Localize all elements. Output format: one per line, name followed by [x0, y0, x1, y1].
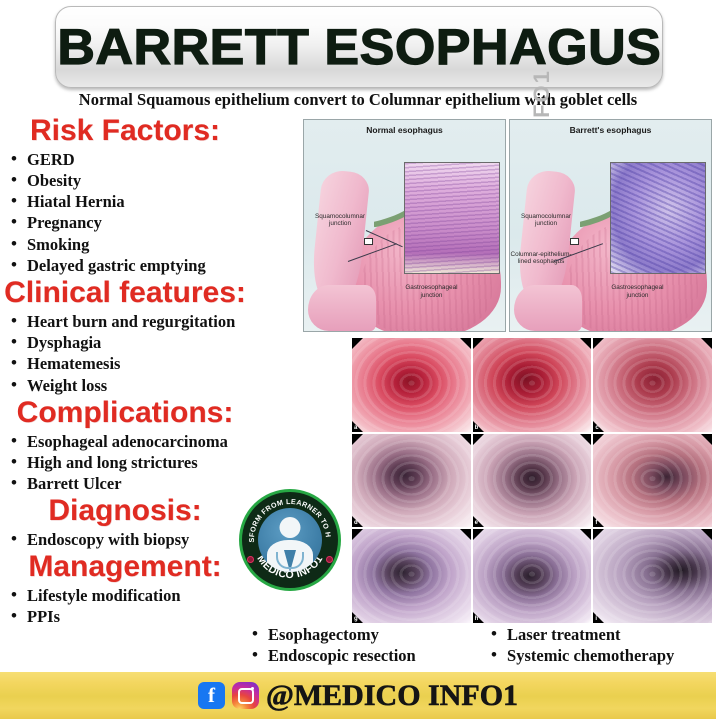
label-columnar-epithelium-lined-esophagus: Columnar-epithelium- lined esophagus: [509, 251, 574, 266]
facebook-icon[interactable]: f: [198, 682, 225, 709]
endoscopy-tile: b: [473, 338, 592, 432]
diagram-panel-barrett: Barrett's esophagus Squamocolumnar junct…: [509, 119, 712, 332]
corner-marker-icon: [460, 529, 471, 540]
corner-marker-icon: [701, 434, 712, 445]
tile-tag: g: [354, 616, 358, 622]
endoscopy-tile: i: [593, 529, 712, 623]
list-item: High and long strictures: [0, 452, 300, 473]
list-complications: Esophageal adenocarcinoma High and long …: [0, 431, 300, 495]
list-item: GERD: [0, 149, 300, 170]
mucosa-texture: [593, 338, 712, 432]
list-item: Delayed gastric emptying: [0, 255, 300, 276]
watermark-container: MEDICO INFO1: [271, 130, 303, 335]
mucosa-texture: [593, 434, 712, 528]
tile-tag: b: [475, 425, 479, 431]
endoscopy-tile: h: [473, 529, 592, 623]
list-item: Pregnancy: [0, 212, 300, 233]
social-handle: @MEDICO INFO1: [266, 679, 518, 713]
biopsy-site-marker: [364, 238, 373, 245]
list-item: Lifestyle modification: [0, 585, 300, 606]
label-gastroesophageal-junction: Gastroesophageal junction: [602, 284, 672, 299]
label-squamocolumnar-junction: Squamocolumnar junction: [515, 213, 577, 228]
gastric-fold-illustration: [308, 285, 376, 331]
section-heading-complications: Complications:: [0, 398, 250, 429]
corner-marker-icon: [701, 338, 712, 349]
list-item: Weight loss: [0, 375, 300, 396]
mucosa-texture: [473, 529, 592, 623]
mucosa-texture: [352, 434, 471, 528]
list-item: Smoking: [0, 234, 300, 255]
logo-accent-dot: [326, 556, 333, 563]
medico-info-logo: TRANSFORM FROM LEARNER TO HEALER MEDICO …: [242, 492, 338, 588]
endoscopy-tile: c: [593, 338, 712, 432]
corner-marker-icon: [593, 338, 604, 349]
endoscopy-tile: f: [593, 434, 712, 528]
histology-image-barrett: [610, 162, 706, 274]
corner-marker-icon: [352, 529, 363, 540]
tile-tag: f: [595, 520, 597, 526]
corner-marker-icon: [580, 529, 591, 540]
endoscopy-tile: e: [473, 434, 592, 528]
section-heading-clinical-features: Clinical features:: [0, 278, 250, 309]
corner-marker-icon: [473, 434, 484, 445]
doctor-head-icon: [280, 517, 301, 538]
tile-tag: i: [595, 616, 597, 622]
mucosa-texture: [352, 529, 471, 623]
tile-tag: h: [475, 616, 479, 622]
endoscopy-tile: a: [352, 338, 471, 432]
corner-marker-icon: [460, 434, 471, 445]
gastric-fold-illustration: [514, 285, 582, 331]
corner-marker-icon: [580, 338, 591, 349]
instagram-icon[interactable]: [232, 682, 259, 709]
mucosa-texture: [593, 529, 712, 623]
list-item: Heart burn and regurgitation: [0, 311, 300, 332]
list-item: Dysphagia: [0, 332, 300, 353]
corner-marker-icon: [593, 434, 604, 445]
anatomy-diagram: Normal esophagus Squamocolumnar junction…: [303, 119, 712, 332]
section-heading-risk-factors: Risk Factors:: [0, 116, 250, 147]
diagram-title-normal: Normal esophagus: [304, 125, 505, 135]
diagram-title-barrett: Barrett's esophagus: [510, 125, 711, 135]
corner-marker-icon: [352, 338, 363, 349]
corner-marker-icon: [473, 338, 484, 349]
corner-marker-icon: [593, 529, 604, 540]
subtitle-text: Normal Squamous epithelium convert to Co…: [0, 90, 716, 110]
list-item: Systemic chemotherapy: [487, 645, 716, 666]
mucosa-texture: [473, 338, 592, 432]
diagram-panel-normal: Normal esophagus Squamocolumnar junction…: [303, 119, 506, 332]
list-clinical-features: Heart burn and regurgitation Dysphagia H…: [0, 311, 300, 396]
page-title: BARRETT ESOPHAGUS: [57, 18, 661, 76]
list-item: Laser treatment: [487, 624, 716, 645]
corner-marker-icon: [352, 434, 363, 445]
social-footer-bar: f @MEDICO INFO1: [0, 670, 716, 719]
endoscopy-tile: g: [352, 529, 471, 623]
endoscopy-image-grid: a b c d e: [352, 338, 712, 623]
tile-tag: c: [595, 425, 598, 431]
label-squamocolumnar-junction: Squamocolumnar junction: [309, 213, 371, 228]
label-gastroesophageal-junction: Gastroesophageal junction: [396, 284, 466, 299]
tile-tag: a: [354, 425, 357, 431]
biopsy-site-marker: [570, 238, 579, 245]
list-management: Lifestyle modification PPIs: [0, 585, 300, 628]
list-item: Hiatal Hernia: [0, 191, 300, 212]
tile-tag: e: [475, 520, 478, 526]
infographic-root: BARRETT ESOPHAGUS Normal Squamous epithe…: [0, 0, 716, 719]
management-extra-column-2: Laser treatment Systemic chemotherapy: [487, 624, 716, 668]
mucosa-texture: [352, 338, 471, 432]
corner-marker-icon: [473, 529, 484, 540]
corner-marker-icon: [701, 529, 712, 540]
list-item: Esophagectomy: [248, 624, 473, 645]
management-extra-column-1: Esophagectomy Endoscopic resection: [248, 624, 473, 668]
title-banner: BARRETT ESOPHAGUS: [55, 6, 663, 88]
list-risk-factors: GERD Obesity Hiatal Hernia Pregnancy Smo…: [0, 149, 300, 277]
corner-marker-icon: [460, 338, 471, 349]
logo-accent-dot: [247, 556, 254, 563]
list-item: Esophageal adenocarcinoma: [0, 431, 300, 452]
section-heading-management: Management:: [0, 552, 250, 583]
mucosa-texture: [473, 434, 592, 528]
corner-marker-icon: [580, 434, 591, 445]
list-item: Obesity: [0, 170, 300, 191]
management-extra-bullets: Esophagectomy Endoscopic resection Laser…: [248, 624, 716, 668]
endoscopy-tile: d: [352, 434, 471, 528]
logo-inner-circle: [258, 508, 322, 572]
tile-tag: d: [354, 520, 358, 526]
histology-image-normal: [404, 162, 500, 274]
list-item: Hematemesis: [0, 353, 300, 374]
list-item: Endoscopic resection: [248, 645, 473, 666]
section-heading-diagnosis: Diagnosis:: [0, 496, 250, 527]
